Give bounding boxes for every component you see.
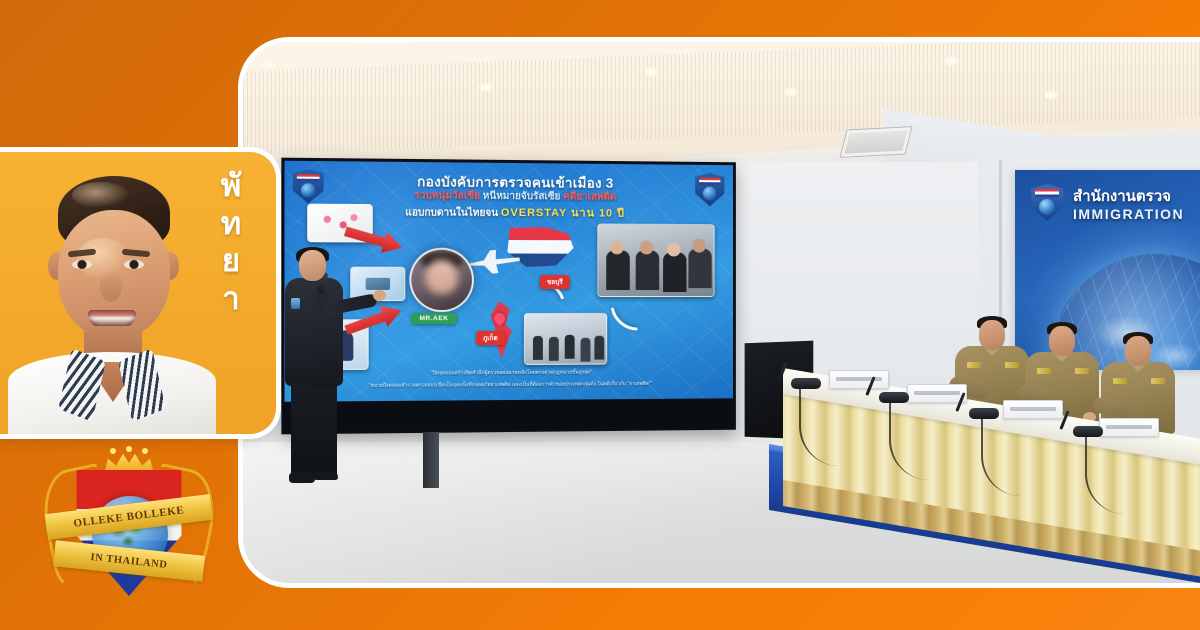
nameplate — [1003, 400, 1063, 419]
location-label-char-4: า — [222, 283, 239, 315]
location-label-char-2: ท — [221, 208, 241, 240]
avatar — [14, 166, 210, 434]
presenter-figure — [283, 250, 353, 488]
location-label-char-3: ย — [222, 245, 240, 277]
board-subtitle-1-mid: หนีหมายจับรัสเซีย — [483, 191, 563, 203]
board-overstay-word: OVERSTAY — [501, 207, 567, 219]
suspect-name-chip: MR.AEK — [411, 313, 456, 324]
board-subtitle-1-suffix: คดียาเสพติด — [563, 191, 616, 202]
board-stand — [423, 432, 439, 488]
portrait-card: พั ท ย า — [0, 152, 276, 434]
brand-logo[interactable]: OLLEKE BOLLEKE IN THAILAND — [44, 452, 214, 617]
suspect-portrait-blurred — [409, 248, 474, 312]
logo-ribbon-bottom-text: IN THAILAND — [90, 551, 168, 570]
immigration-english-title: IMMIGRATION — [1073, 206, 1184, 222]
board-subtitle-2: แอบกบดานในไทยจน OVERSTAY นาน 10 ปี — [332, 202, 695, 222]
crown-dots-icon — [110, 448, 148, 456]
nameplate — [1099, 418, 1159, 437]
nameplate — [829, 370, 889, 389]
location-label-vertical: พั ท ย า — [204, 170, 258, 314]
ceiling-downlight — [261, 60, 277, 70]
ceiling-downlight — [783, 87, 799, 97]
location-label-char-1: พั — [221, 170, 241, 202]
immigration-thai-title: สำนักงานตรวจ — [1073, 184, 1171, 208]
presenter-badge-icon — [291, 298, 300, 309]
press-conference-photo: สำนักงานตรวจ IMMIGRATION กองบังคับการตรว… — [243, 42, 1200, 583]
board-subtitle-1-prefix: รวบหนุ่มวัลเชีย — [414, 190, 483, 202]
evidence-thumbnail-group — [524, 313, 607, 365]
location-chip-phuket: ภูเก็ต — [476, 331, 505, 345]
ac-vent — [840, 126, 913, 158]
location-chip-chonburi: ชลบุรี — [540, 275, 570, 289]
poster-canvas: สำนักงานตรวจ IMMIGRATION กองบังคับการตรว… — [0, 0, 1200, 630]
ceiling-downlight — [1043, 90, 1059, 100]
board-subtitle-2-prefix: แอบกบดานในไทยจน — [405, 207, 501, 219]
police-emblem-icon — [1031, 184, 1063, 221]
ceiling-downlight — [478, 82, 494, 92]
evidence-thumbnail-arrest — [597, 223, 714, 297]
nameplate — [907, 384, 967, 403]
ceiling-downlight — [643, 67, 659, 77]
board-subtitle-2-suffix: นาน 10 ปี — [567, 207, 625, 219]
ceiling-downlight — [943, 56, 959, 66]
